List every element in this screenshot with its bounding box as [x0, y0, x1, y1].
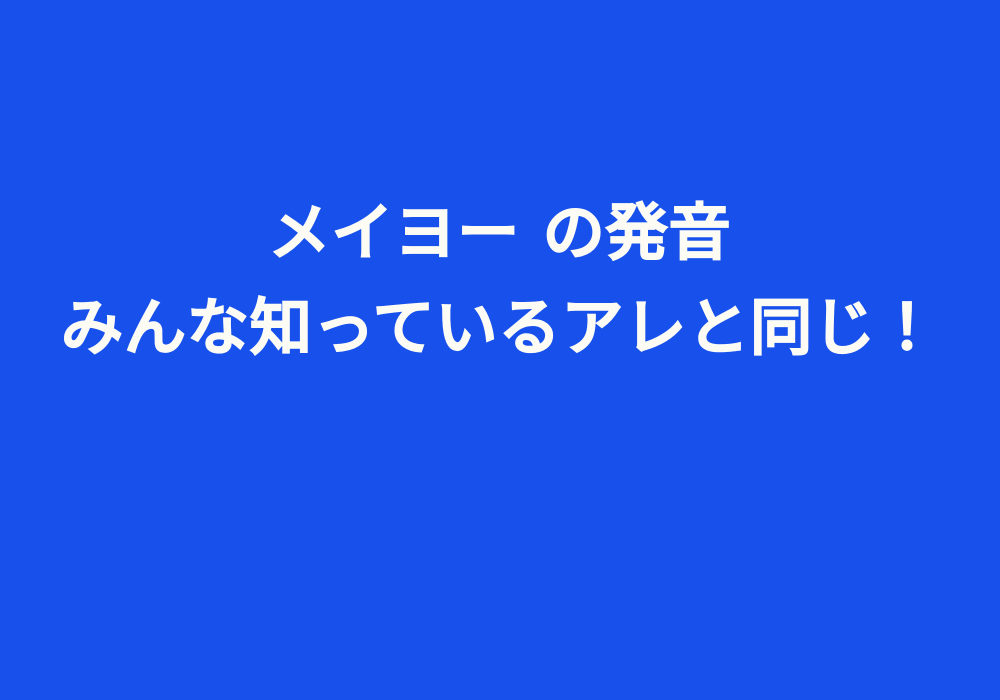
- headline-block: メイヨー の発音 みんな知っているアレと同じ！: [0, 196, 1000, 364]
- headline-line-1: メイヨー の発音: [0, 196, 1000, 269]
- headline-line-2: みんな知っているアレと同じ！: [0, 291, 1000, 364]
- banner-canvas: メイヨー の発音 みんな知っているアレと同じ！: [0, 0, 1000, 700]
